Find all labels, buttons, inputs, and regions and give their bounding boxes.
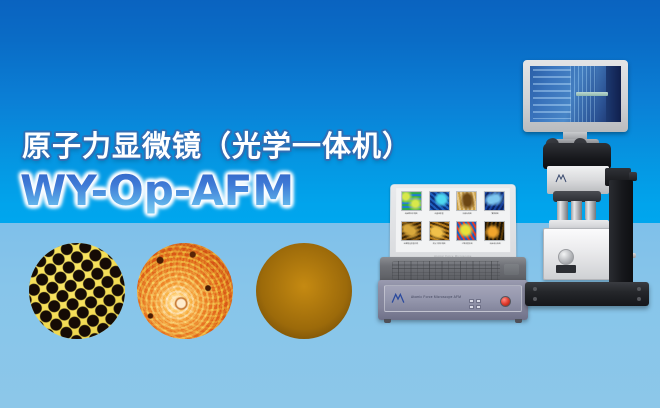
afm-scan-thumbnail[interactable]: 石墨烯表面 xyxy=(426,191,453,219)
thumbnail-caption: 薄膜相图 xyxy=(491,212,498,216)
microscope-monitor xyxy=(523,60,628,132)
afm-scanner-head xyxy=(543,228,615,280)
dot-array-pattern xyxy=(29,243,125,339)
afm-scan-image xyxy=(456,221,477,241)
thumbnail-caption: 纳米线分布图 xyxy=(489,242,500,246)
laptop-keyboard[interactable] xyxy=(392,261,500,280)
sample-image-grain-cluster xyxy=(256,243,352,339)
afm-scan-image xyxy=(429,191,450,211)
base-screw xyxy=(533,287,537,291)
screen-dark-region xyxy=(606,66,621,122)
led-indicator xyxy=(469,299,474,303)
monitor-screen-view xyxy=(530,66,621,122)
afm-scan-thumbnail[interactable]: 光栅标样图 xyxy=(453,191,480,219)
afm-scan-thumbnail[interactable]: 薄膜相图 xyxy=(481,191,508,219)
afm-scan-image xyxy=(429,221,450,241)
controller-label: Atomic Force Microscope AFM xyxy=(411,295,461,299)
laptop-lid: 纳米颗粒形貌图石墨烯表面光栅标样图薄膜相图金属镀层表面形貌高分子膜形貌图三维高度… xyxy=(390,184,517,260)
focus-knob[interactable] xyxy=(558,249,574,265)
led-indicator xyxy=(469,305,474,309)
product-banner: WY-Op-AFM 原子力显微镜（光学一体机） WY-Op-AFM 纳米颗粒形貌… xyxy=(0,0,660,408)
afm-scan-image xyxy=(401,191,422,211)
microscope-base-plate xyxy=(525,282,649,306)
thumbnail-caption: 高分子膜形貌图 xyxy=(433,242,446,246)
base-screw xyxy=(637,287,641,291)
afm-scan-image xyxy=(401,221,422,241)
base-screw xyxy=(533,297,537,301)
microscope-body xyxy=(547,166,609,194)
sample-image-terrace-spiral xyxy=(137,243,233,339)
scanner-badge xyxy=(556,265,576,273)
base-screw xyxy=(637,297,641,301)
objective-lens xyxy=(585,201,596,221)
laptop-screen: 纳米颗粒形貌图石墨烯表面光栅标样图薄膜相图金属镀层表面形貌高分子膜形貌图三维高度… xyxy=(396,188,510,252)
screen-stripe-region xyxy=(533,69,571,118)
terrace-pits xyxy=(137,243,233,339)
afm-scan-thumbnail[interactable]: 纳米颗粒形貌图 xyxy=(398,191,425,219)
afm-scan-image xyxy=(456,191,477,211)
page-title: 原子力显微镜（光学一体机） xyxy=(22,123,412,165)
thumbnail-caption: 光栅标样图 xyxy=(462,212,471,216)
sample-image-dot-array xyxy=(29,243,125,339)
controller-indicator-leds xyxy=(469,299,481,309)
thumbnail-caption: 金属镀层表面形貌 xyxy=(404,242,418,246)
z-axis-tower xyxy=(609,180,633,288)
thumbnail-caption: 纳米颗粒形貌图 xyxy=(405,212,418,216)
afm-optical-microscope xyxy=(505,60,655,325)
afm-scan-image xyxy=(484,221,505,241)
afm-scan-thumbnail[interactable]: 三维高度彩图 xyxy=(453,221,480,250)
cantilever-probe xyxy=(576,92,609,96)
afm-scan-thumbnail[interactable]: 金属镀层表面形貌 xyxy=(398,221,425,250)
thumbnail-caption: 石墨烯表面 xyxy=(435,212,444,216)
afm-scan-image xyxy=(484,191,505,211)
controller-front-panel: Atomic Force Microscope AFM xyxy=(384,285,522,312)
model-number-text: WY-Op-AFM xyxy=(20,166,294,215)
manufacturer-logo-icon xyxy=(391,293,405,304)
manufacturer-logo-icon xyxy=(555,174,567,183)
thumbnail-caption: 三维高度彩图 xyxy=(461,242,472,246)
afm-scan-thumbnail[interactable]: 高分子膜形貌图 xyxy=(426,221,453,250)
led-indicator xyxy=(476,305,481,309)
grain-texture xyxy=(256,243,352,339)
led-indicator xyxy=(476,299,481,303)
controller-foot xyxy=(384,319,391,323)
